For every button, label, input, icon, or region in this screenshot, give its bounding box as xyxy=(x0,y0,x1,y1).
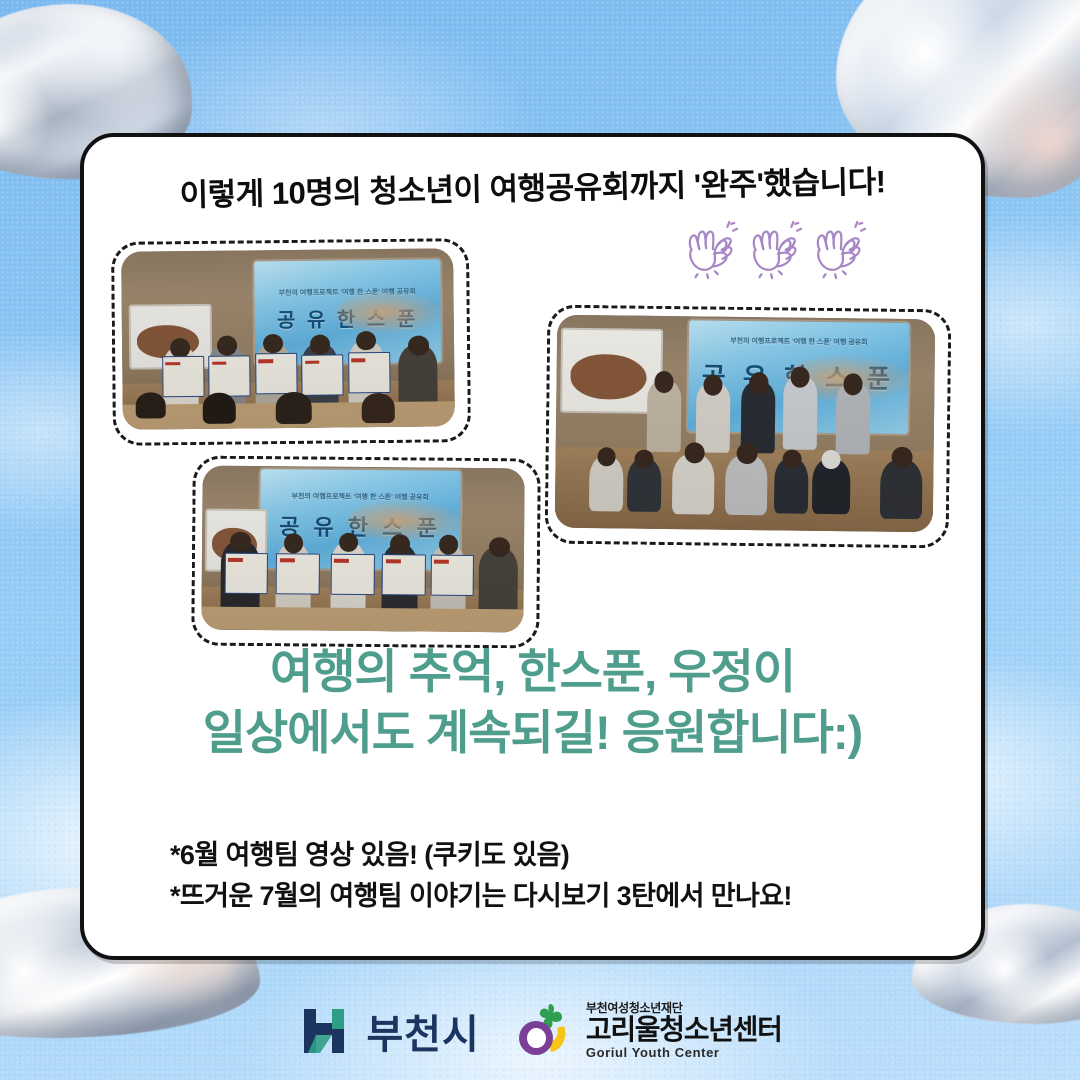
closing-message: 여행의 추억, 한스푼, 우정이 일상에서도 계속되길! 응원합니다:) xyxy=(84,641,981,763)
poster-canvas: 이렇게 10명의 청소년이 여행공유회까지 '완주'했습니다! xyxy=(0,0,1080,1080)
footnote-item: *6월 여행팀 영상 있음! (쿠키도 있음) xyxy=(170,835,792,876)
photo-shading xyxy=(555,315,936,533)
clapping-hands-icon xyxy=(746,221,804,281)
bucheon-city-logo-icon xyxy=(298,1003,354,1059)
photo-shading xyxy=(201,466,524,633)
footnote-item: *뜨거운 7월의 여행팀 이야기는 다시보기 3탄에서 만나요! xyxy=(170,876,792,917)
photo-shading xyxy=(121,248,455,429)
content-card: 이렇게 10명의 청소년이 여행공유회까지 '완주'했습니다! xyxy=(80,133,985,960)
clap-icon-group xyxy=(682,221,868,281)
clapping-hands-icon xyxy=(810,221,868,281)
bucheon-city-name: 부천시 xyxy=(366,1002,479,1060)
goriul-text-block: 부천여성청소년재단 고리울청소년센터 Goriul Youth Center xyxy=(586,1002,782,1060)
photo-certificate-ceremony-male-group: 부천의 여행프로젝트 '여행 한 스푼' 여행 공유회 공 유 한 스 푼 xyxy=(121,248,455,429)
goriul-english-name: Goriul Youth Center xyxy=(586,1046,782,1060)
photo-group-sitting-floor: 부천의 여행프로젝트 '여행 한 스푼' 여행 공유회 공 유 한 스 푼 xyxy=(555,315,936,533)
goriul-center-name: 고리울청소년센터 xyxy=(586,1015,782,1046)
footnote-list: *6월 여행팀 영상 있음! (쿠키도 있음) *뜨거운 7월의 여행팀 이야기… xyxy=(170,835,792,917)
goriul-youth-center-logo: 부천여성청소년재단 고리울청소년센터 Goriul Youth Center xyxy=(514,1002,782,1060)
closing-message-line-2: 일상에서도 계속되길! 응원합니다:) xyxy=(84,702,981,763)
page-title: 이렇게 10명의 청소년이 여행공유회까지 '완주'했습니다! xyxy=(84,154,982,216)
clapping-hands-icon xyxy=(682,221,740,281)
footer-logo-bar: 부천시 부천여성청소년재단 고리울청소년센터 Goriul Youth Cent… xyxy=(0,988,1080,1074)
closing-message-line-1: 여행의 추억, 한스푼, 우정이 xyxy=(270,645,795,698)
goriul-youth-center-logo-icon xyxy=(514,1002,576,1060)
bucheon-city-logo: 부천시 xyxy=(298,1002,479,1060)
photo-certificate-ceremony-mixed-group: 부천의 여행프로젝트 '여행 한 스푼' 여행 공유회 공 유 한 스 푼 xyxy=(201,466,524,633)
